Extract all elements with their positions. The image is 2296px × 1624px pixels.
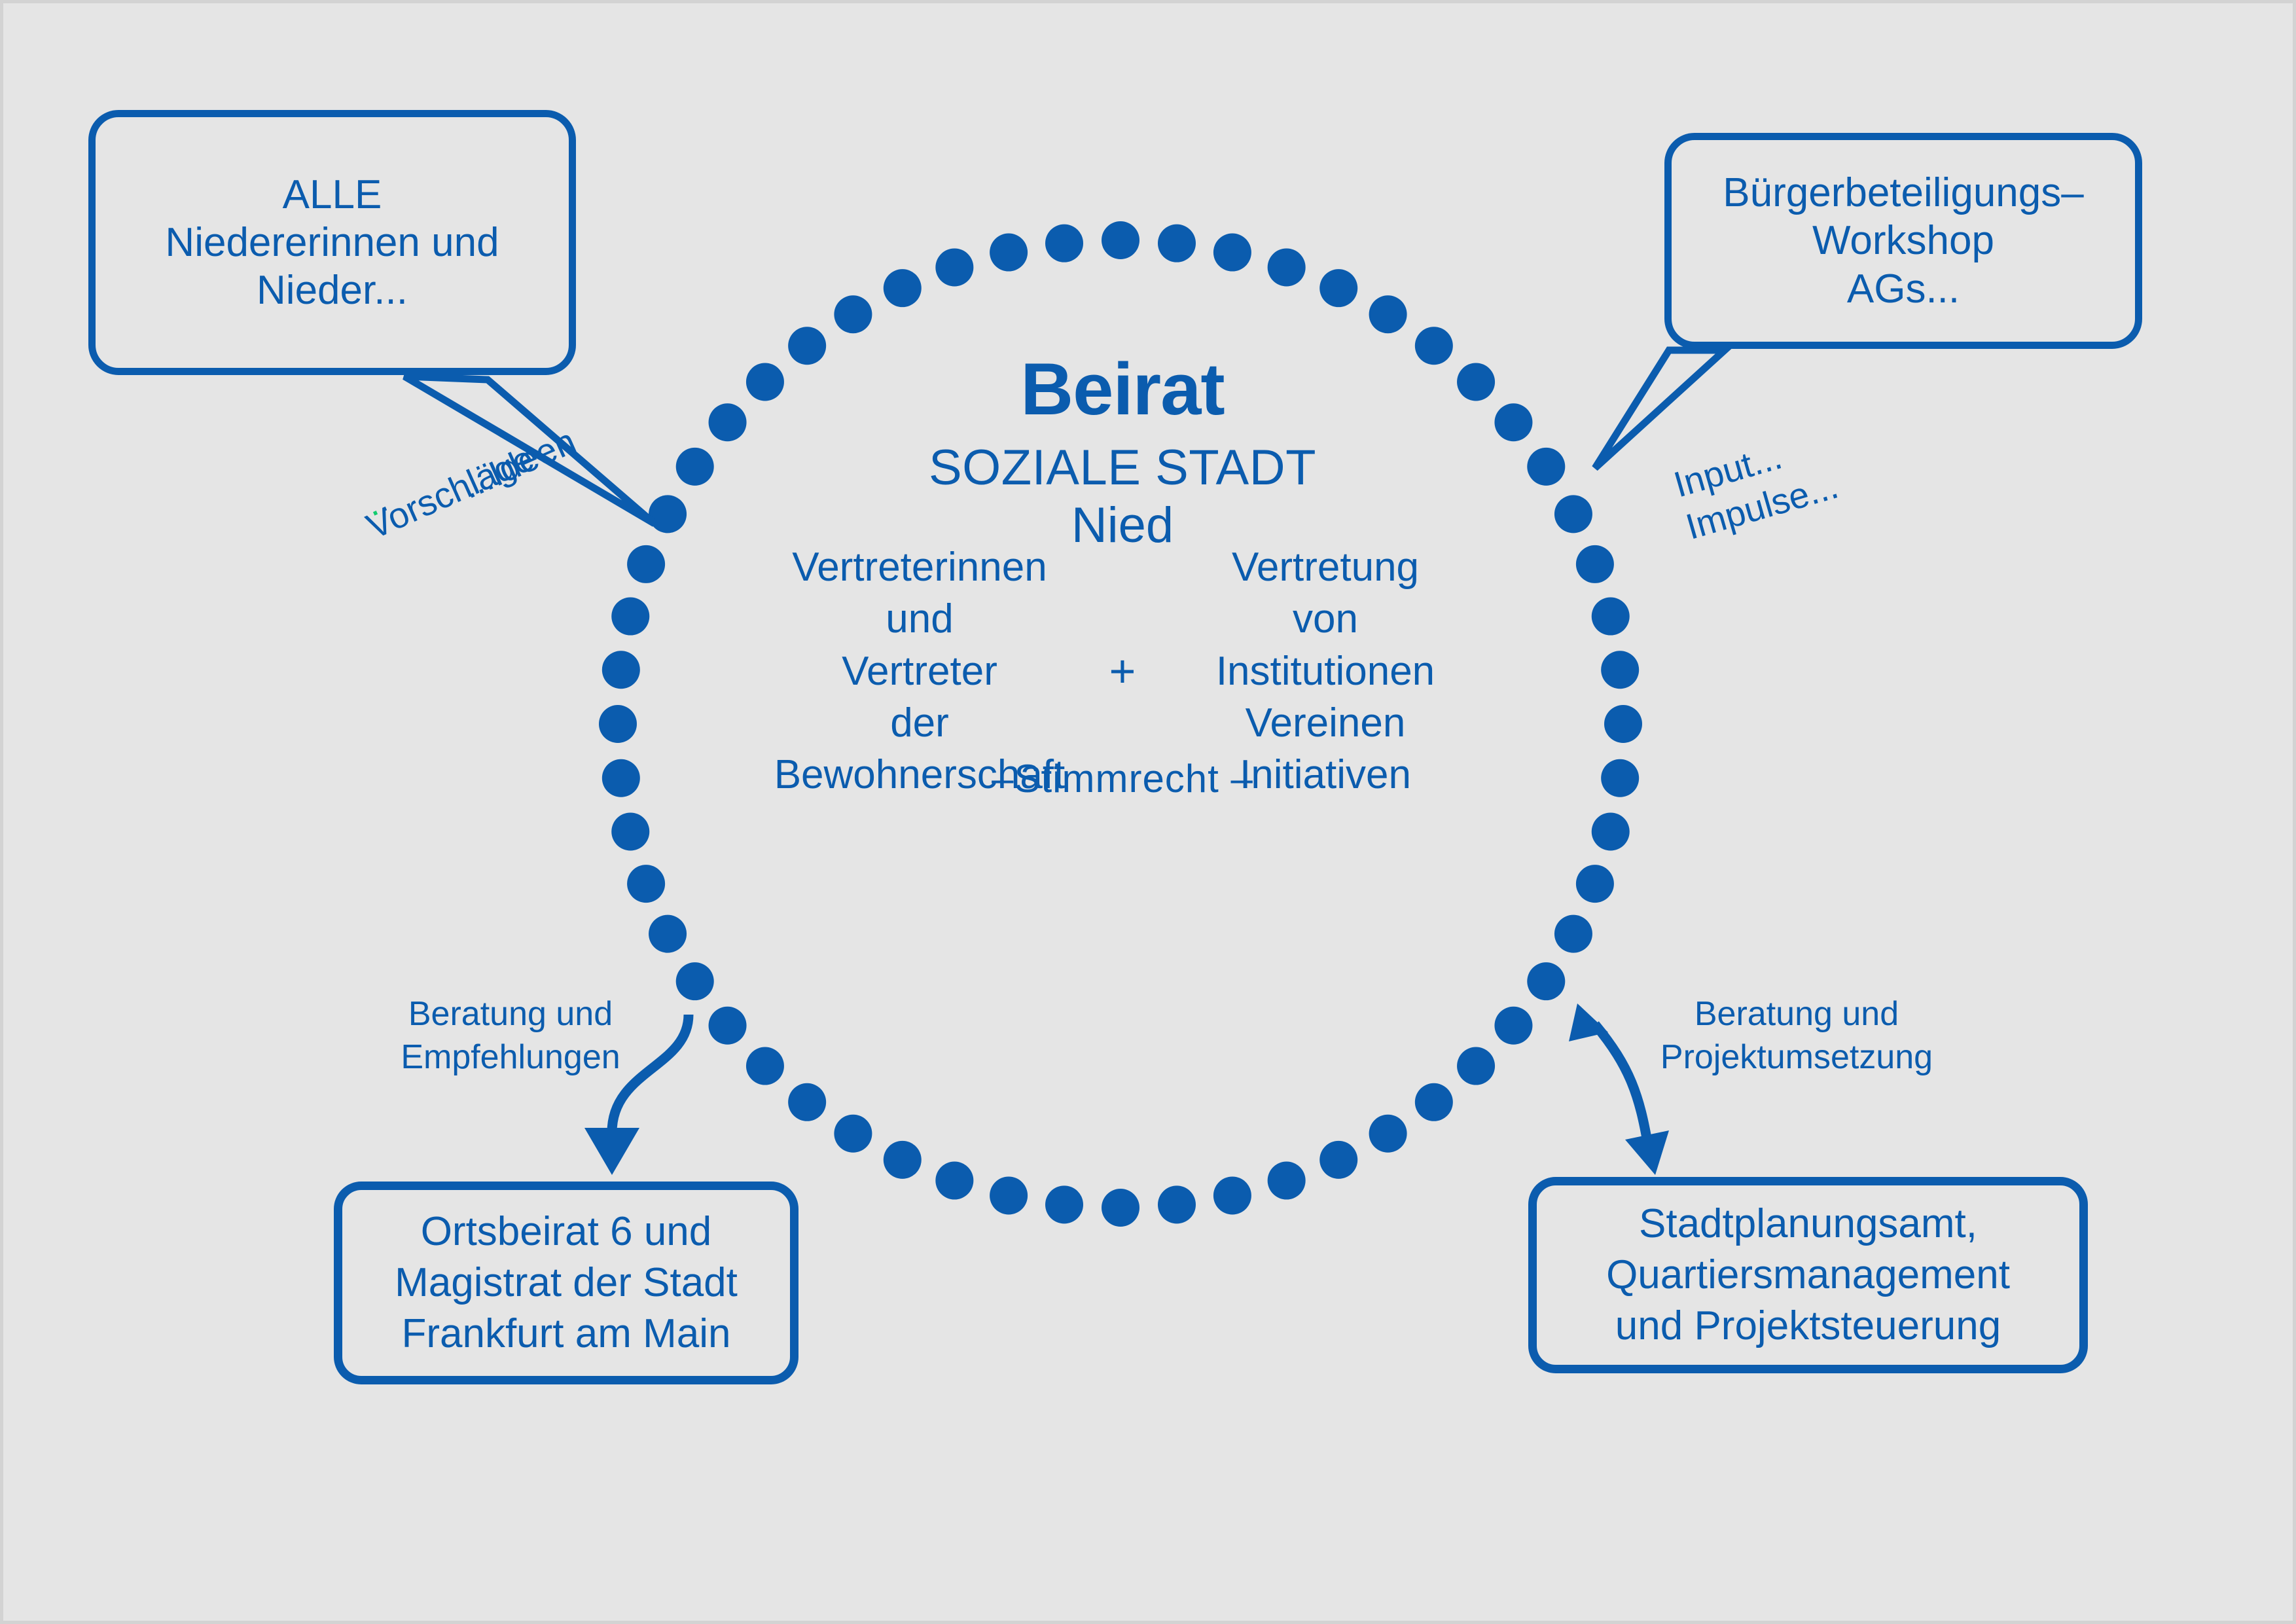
ring-dot [990,234,1028,272]
ring-dot [1213,1176,1251,1214]
ring-dot [1604,705,1642,743]
speech-bubble-workshop-label: Bürgerbeteiligungs– Workshop AGs... [1723,169,2084,312]
speech-bubble-residents-label: ALLE Niedererinnen und Nieder... [165,171,499,314]
speech-bubble-residents[interactable]: ALLE Niedererinnen und Nieder... [88,110,576,375]
ring-dot [1576,545,1614,583]
arrowhead-ortsbeirat [584,1128,639,1175]
ring-dot [1045,225,1083,262]
ring-dot [935,1162,973,1200]
annotation-beratung-empfehlungen: Beratung und Empfehlungen [380,993,641,1079]
ring-dot [1319,269,1357,307]
ring-dot [1319,1141,1357,1179]
ring-dot [611,598,649,636]
ring-dot [834,295,872,333]
core-voting-note: –Stimmrecht – [677,756,1568,801]
ring-dot [1102,221,1139,259]
ring-dot [1592,598,1630,636]
ring-dot [599,705,637,743]
ring-dot [602,651,640,689]
ring-dot [1601,759,1639,797]
ring-dot [1415,1083,1453,1121]
ring-dot [1268,1162,1306,1200]
beirat-core: Beirat SOZIALE STADT Nied Vertreterinnen… [677,350,1568,1083]
actor-box-ortsbeirat[interactable]: Ortsbeirat 6 und Magistrat der Stadt Fra… [334,1182,798,1384]
core-subtitle-line1: SOZIALE STADT [677,439,1568,497]
ring-dot [627,545,665,583]
ring-dot [884,1141,922,1179]
ring-dot [1601,651,1639,689]
actor-box-stadtplanungsamt[interactable]: Stadtplanungsamt, Quartiersmanagement un… [1528,1177,2088,1373]
ring-dot [834,1115,872,1153]
ring-dot [1592,812,1630,850]
ring-dot [1158,1185,1196,1223]
annotation-beratung-projektumsetzung: Beratung und Projektumsetzung [1640,993,1954,1079]
ring-dot [1268,248,1306,286]
actor-box-stadtplanungsamt-label: Stadtplanungsamt, Quartiersmanagement un… [1606,1199,2010,1352]
ring-dot [990,1176,1028,1214]
speech-bubble-workshop[interactable]: Bürgerbeteiligungs– Workshop AGs... [1664,133,2142,349]
core-title: Beirat [677,353,1568,426]
bubble-tail-workshop [1595,350,1725,468]
actor-box-ortsbeirat-label: Ortsbeirat 6 und Magistrat der Stadt Fra… [395,1206,738,1360]
ring-dot [1213,234,1251,272]
ring-dot [1102,1189,1139,1227]
core-plus-symbol: + [1083,645,1162,697]
ring-dot [1045,1185,1083,1223]
ring-dot [627,865,665,903]
ring-dot [602,759,640,797]
diagram-canvas: ALLE Niedererinnen und Nieder... Bürgerb… [0,0,2296,1624]
ring-dot [1158,225,1196,262]
ring-dot [611,812,649,850]
ring-dot [935,248,973,286]
ring-dot [1369,295,1407,333]
ring-dot [1576,865,1614,903]
ring-dot [788,1083,826,1121]
arrowhead-down-stadtplanungsamt [1625,1130,1669,1175]
ring-dot [1369,1115,1407,1153]
ring-dot [884,269,922,307]
